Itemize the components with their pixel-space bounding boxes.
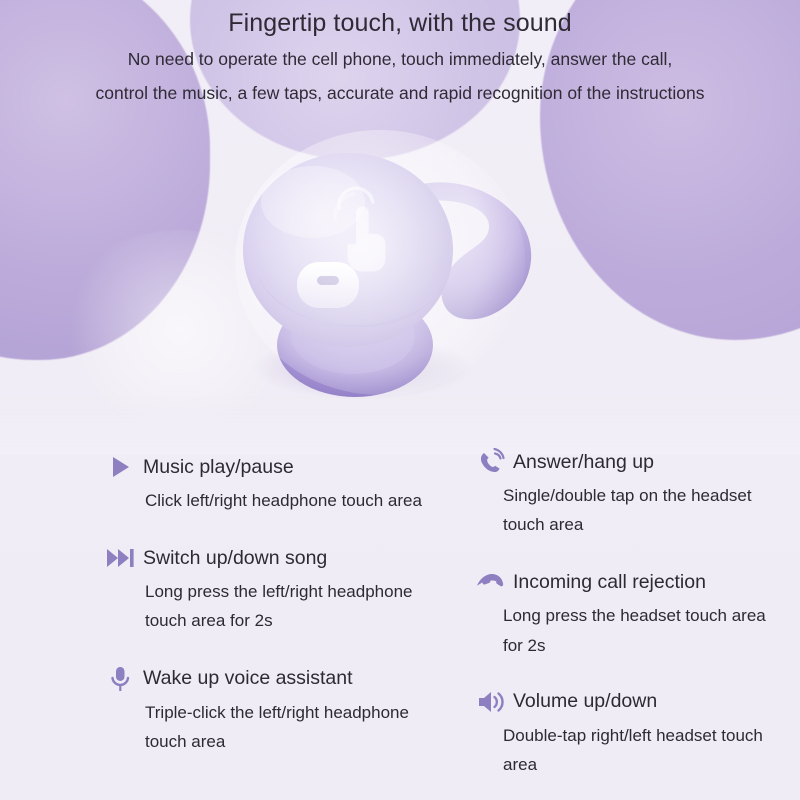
feature-voice-assistant: Wake up voice assistant Triple-click the… <box>105 662 425 756</box>
feature-title: Switch up/down song <box>143 547 327 570</box>
phone-hangup-icon <box>475 567 505 597</box>
phone-ring-icon <box>475 447 505 477</box>
play-icon <box>105 452 135 482</box>
feature-description: Triple-click the left/right headphone to… <box>105 698 425 756</box>
feature-title: Volume up/down <box>513 690 657 713</box>
feature-description: Long press the headset touch area for 2s <box>475 601 785 659</box>
feature-call-rejection: Incoming call rejection Long press the h… <box>475 565 785 659</box>
feature-description: Double-tap right/left headset touch area <box>475 721 785 779</box>
feature-music-play-pause: Music play/pause Click left/right headph… <box>105 450 425 515</box>
microphone-icon <box>105 664 135 694</box>
feature-switch-song: Switch up/down song Long press the left/… <box>105 541 425 635</box>
feature-description: Single/double tap on the headset touch a… <box>475 481 785 539</box>
product-halo <box>235 130 525 395</box>
feature-title: Wake up voice assistant <box>143 667 353 690</box>
feature-title: Music play/pause <box>143 456 294 479</box>
page-title: Fingertip touch, with the sound <box>0 9 800 38</box>
feature-answer-hangup: Answer/hang up Single/double tap on the … <box>475 445 785 539</box>
feature-list: Music play/pause Click left/right headph… <box>0 440 800 800</box>
next-track-icon <box>105 543 135 573</box>
feature-column-right: Answer/hang up Single/double tap on the … <box>475 440 785 735</box>
feature-title: Answer/hang up <box>513 451 654 474</box>
feature-column-left: Music play/pause Click left/right headph… <box>105 440 425 706</box>
speaker-volume-icon <box>475 687 505 717</box>
product-image <box>235 130 565 410</box>
feature-title: Incoming call rejection <box>513 571 706 594</box>
promo-page: Fingertip touch, with the sound No need … <box>0 0 800 800</box>
subtitle-line-2: control the music, a few taps, accurate … <box>0 83 800 104</box>
header: Fingertip touch, with the sound No need … <box>0 0 800 104</box>
feature-description: Click left/right headphone touch area <box>105 486 425 515</box>
feature-volume: Volume up/down Double-tap right/left hea… <box>475 685 785 779</box>
feature-description: Long press the left/right headphone touc… <box>105 577 425 635</box>
subtitle-line-1: No need to operate the cell phone, touch… <box>0 49 800 70</box>
